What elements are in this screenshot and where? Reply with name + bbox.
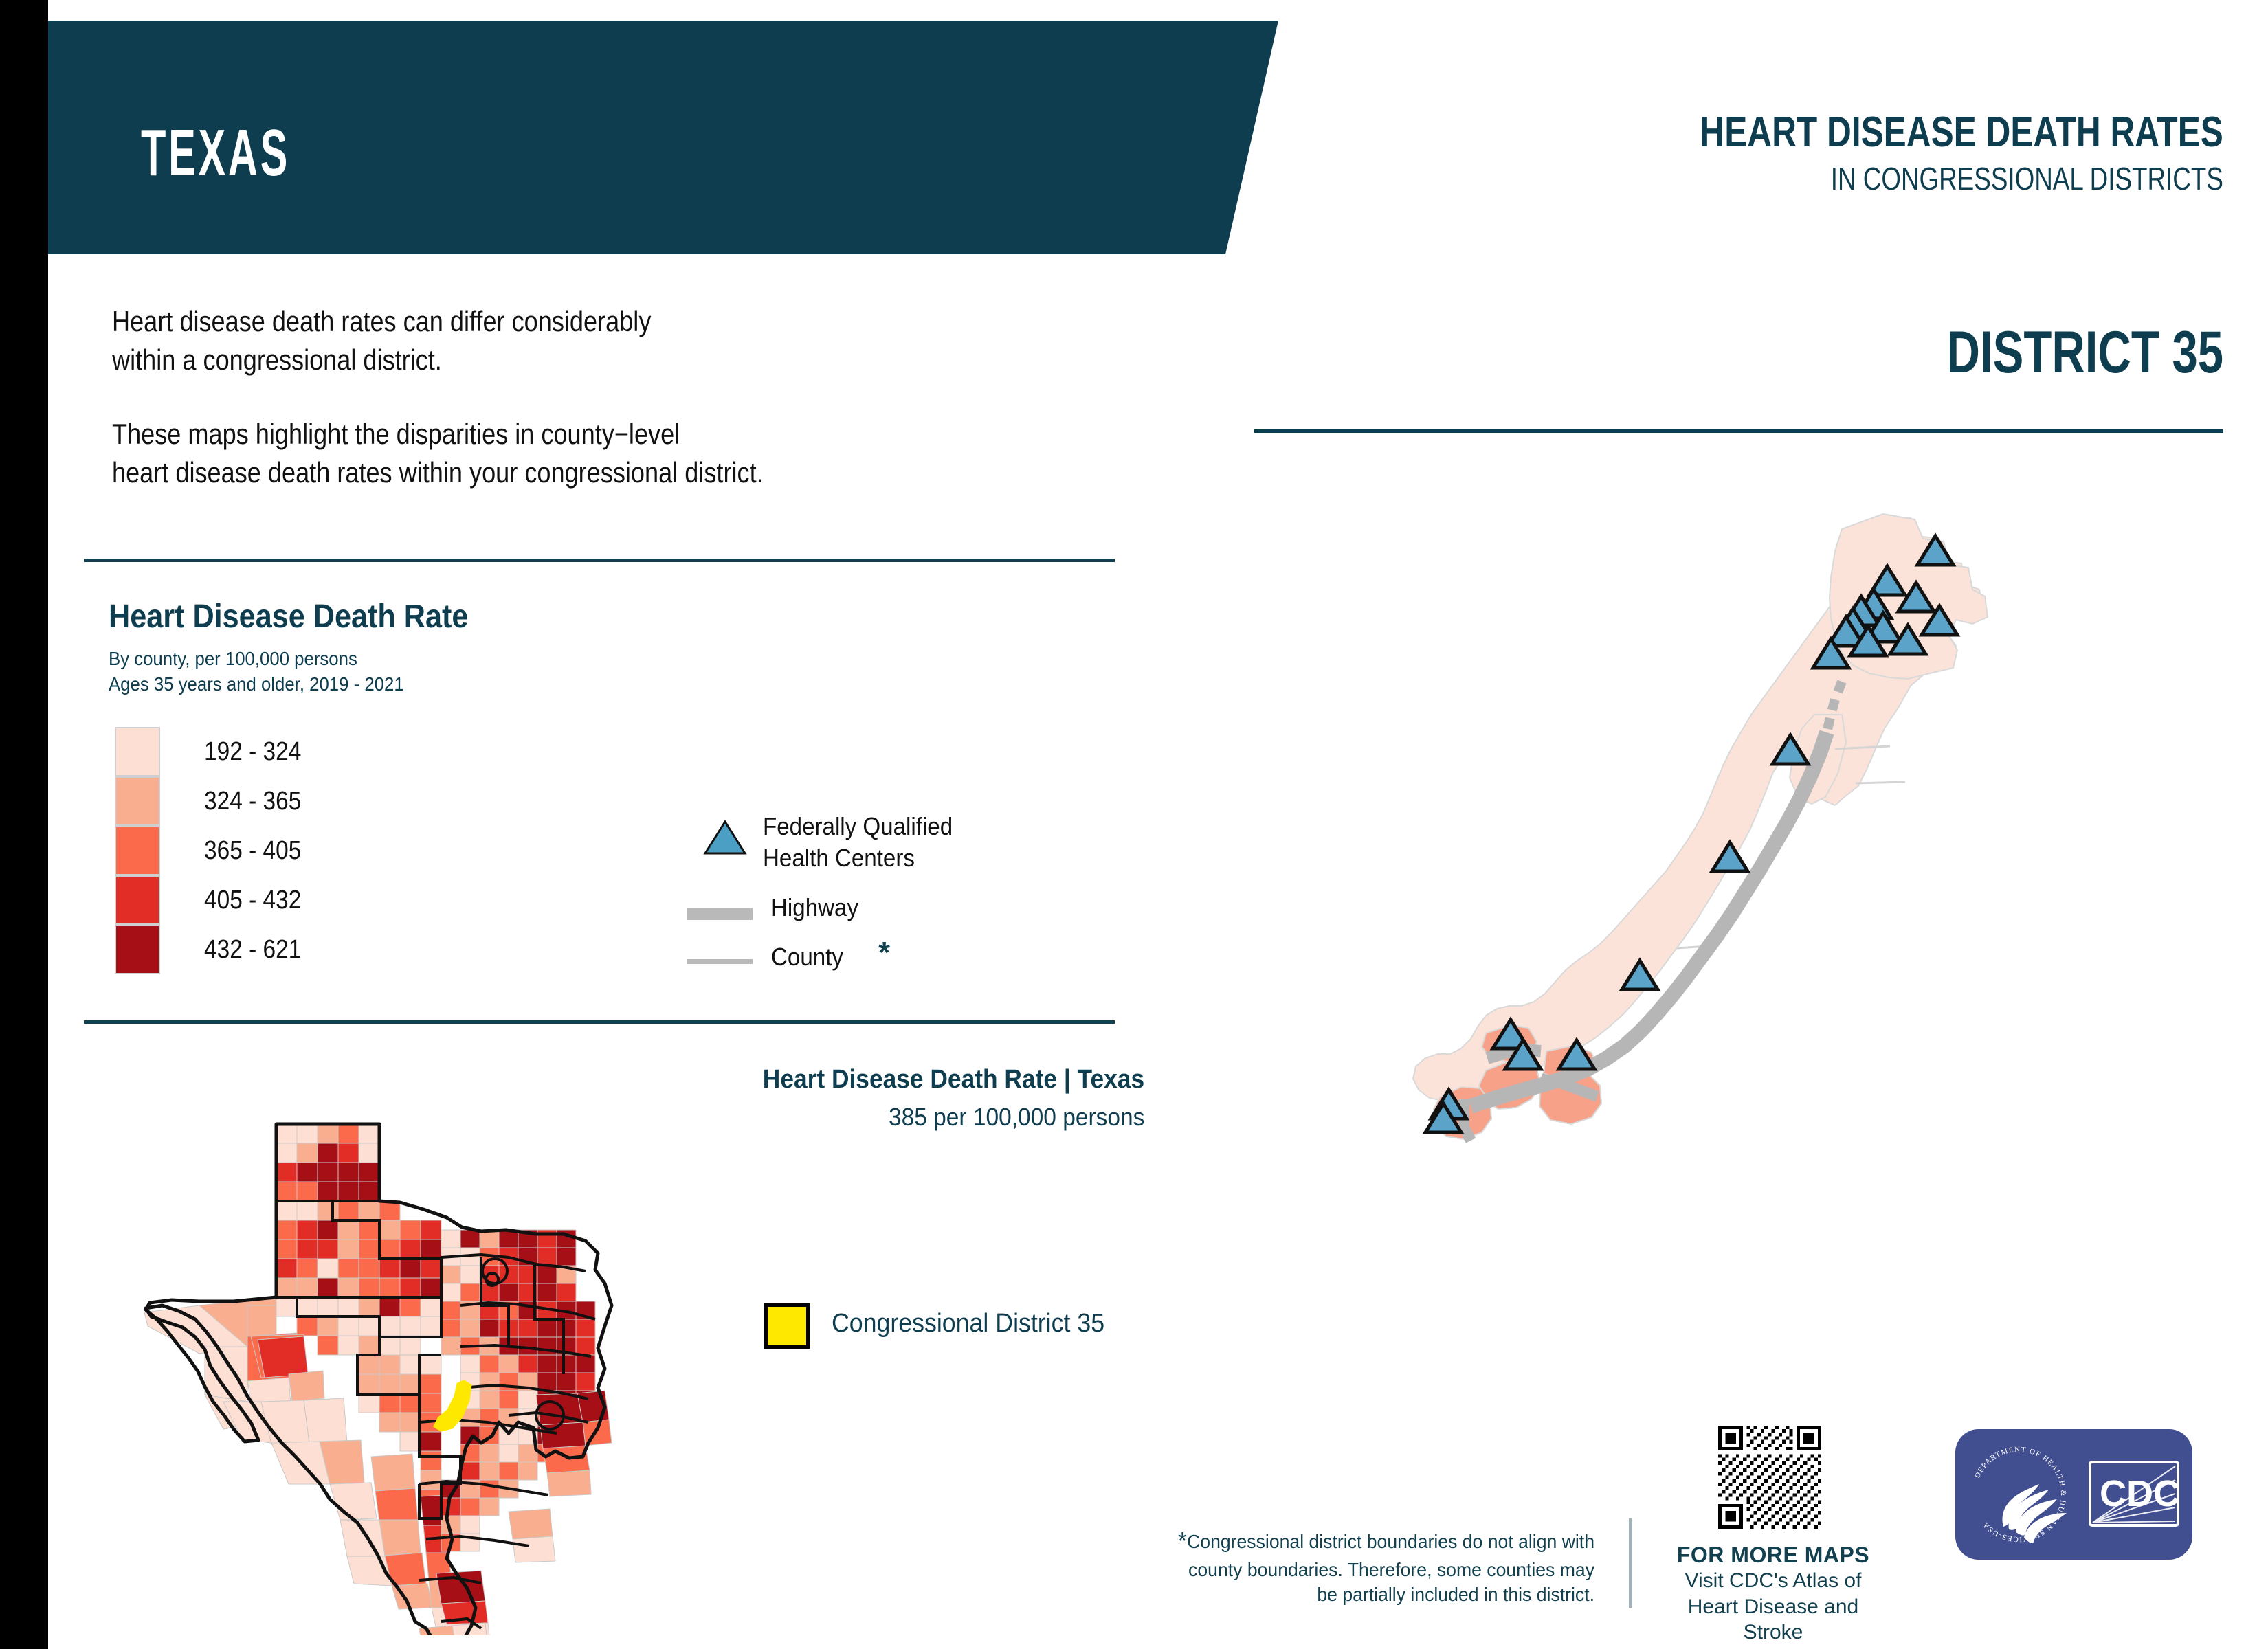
scale-label-1: 192 - 324 bbox=[204, 737, 301, 767]
header-title-group: HEART DISEASE DEATH RATES IN CONGRESSION… bbox=[1569, 110, 2223, 198]
district-title-rule bbox=[1254, 429, 2223, 433]
qr-code-icon[interactable] bbox=[1718, 1426, 1821, 1529]
scale-row: 324 - 365 bbox=[115, 776, 160, 826]
county-line-icon bbox=[687, 959, 753, 964]
more-maps-heading: FOR MORE MAPS bbox=[1663, 1543, 1883, 1568]
scale-label-3: 365 - 405 bbox=[204, 836, 301, 866]
state-name: TEXAS bbox=[141, 120, 290, 186]
more-maps-block[interactable]: FOR MORE MAPS Visit CDC's Atlas of Heart… bbox=[1663, 1543, 1883, 1646]
logo-artwork: DEPARTMENT OF HEALTH & HUMAN SERVICES-US… bbox=[1955, 1429, 2192, 1560]
left-black-rail bbox=[0, 0, 48, 1649]
texas-state-choropleth-map bbox=[124, 1099, 674, 1635]
scale-swatch-2 bbox=[115, 776, 160, 826]
scale-label-5: 432 - 621 bbox=[204, 935, 301, 965]
color-scale: 192 - 324 324 - 365 365 - 405 405 - 432 … bbox=[115, 727, 160, 974]
scale-row: 365 - 405 bbox=[115, 826, 160, 875]
scale-row: 405 - 432 bbox=[115, 875, 160, 925]
intro-paragraph-1: Heart disease death rates can differ con… bbox=[112, 302, 999, 379]
legend-title: Heart Disease Death Rate bbox=[109, 598, 468, 636]
footnote: *Congressional district boundaries do no… bbox=[1164, 1525, 1594, 1608]
cdc-wordmark: CDC bbox=[2090, 1462, 2180, 1525]
header-title-line2: IN CONGRESSIONAL DISTRICTS bbox=[1700, 160, 2223, 198]
district-35-detail-map bbox=[1361, 508, 2089, 1216]
intro-paragraph-2: These maps highlight the disparities in … bbox=[112, 415, 999, 492]
county-footnote-marker: * bbox=[878, 936, 890, 970]
state-map-value: 385 per 100,000 persons bbox=[889, 1103, 1144, 1132]
scale-row: 432 - 621 bbox=[115, 925, 160, 974]
county-label: County bbox=[771, 943, 843, 972]
scale-swatch-4 bbox=[115, 875, 160, 925]
footnote-divider bbox=[1629, 1518, 1632, 1608]
hhs-eagle-icon bbox=[2002, 1484, 2067, 1543]
intro-text: Heart disease death rates can differ con… bbox=[112, 302, 999, 491]
district-title: DISTRICT 35 bbox=[1946, 323, 2223, 382]
highway-label: Highway bbox=[771, 893, 858, 922]
fqhc-label: Federally Qualified Health Centers bbox=[763, 811, 953, 874]
divider-above-legend bbox=[84, 559, 1115, 562]
footnote-text: Congressional district boundaries do not… bbox=[1187, 1531, 1594, 1605]
scale-label-2: 324 - 365 bbox=[204, 787, 301, 816]
state-map-title: Heart Disease Death Rate | Texas bbox=[763, 1065, 1144, 1095]
scale-swatch-3 bbox=[115, 826, 160, 875]
highway-line-icon bbox=[687, 908, 753, 920]
scale-swatch-5 bbox=[115, 925, 160, 974]
scale-label-4: 405 - 432 bbox=[204, 886, 301, 915]
legend-subtitle: By county, per 100,000 persons Ages 35 y… bbox=[109, 646, 404, 697]
scale-row: 192 - 324 bbox=[115, 727, 160, 776]
footnote-marker: * bbox=[1178, 1527, 1187, 1555]
more-maps-body: Visit CDC's Atlas of Heart Disease and S… bbox=[1663, 1568, 1883, 1646]
poster-page: TEXAS HEART DISEASE DEATH RATES IN CONGR… bbox=[0, 0, 2268, 1649]
congressional-district-swatch bbox=[764, 1303, 810, 1349]
divider-below-legend bbox=[84, 1020, 1115, 1024]
hhs-cdc-logo: DEPARTMENT OF HEALTH & HUMAN SERVICES-US… bbox=[1955, 1429, 2192, 1560]
scale-swatch-1 bbox=[115, 727, 160, 776]
fqhc-triangle-icon bbox=[701, 818, 749, 857]
cdc-text: CDC bbox=[2100, 1473, 2180, 1514]
congressional-district-label: Congressional District 35 bbox=[832, 1309, 1104, 1338]
header-title-line1: HEART DISEASE DEATH RATES bbox=[1700, 110, 2223, 155]
